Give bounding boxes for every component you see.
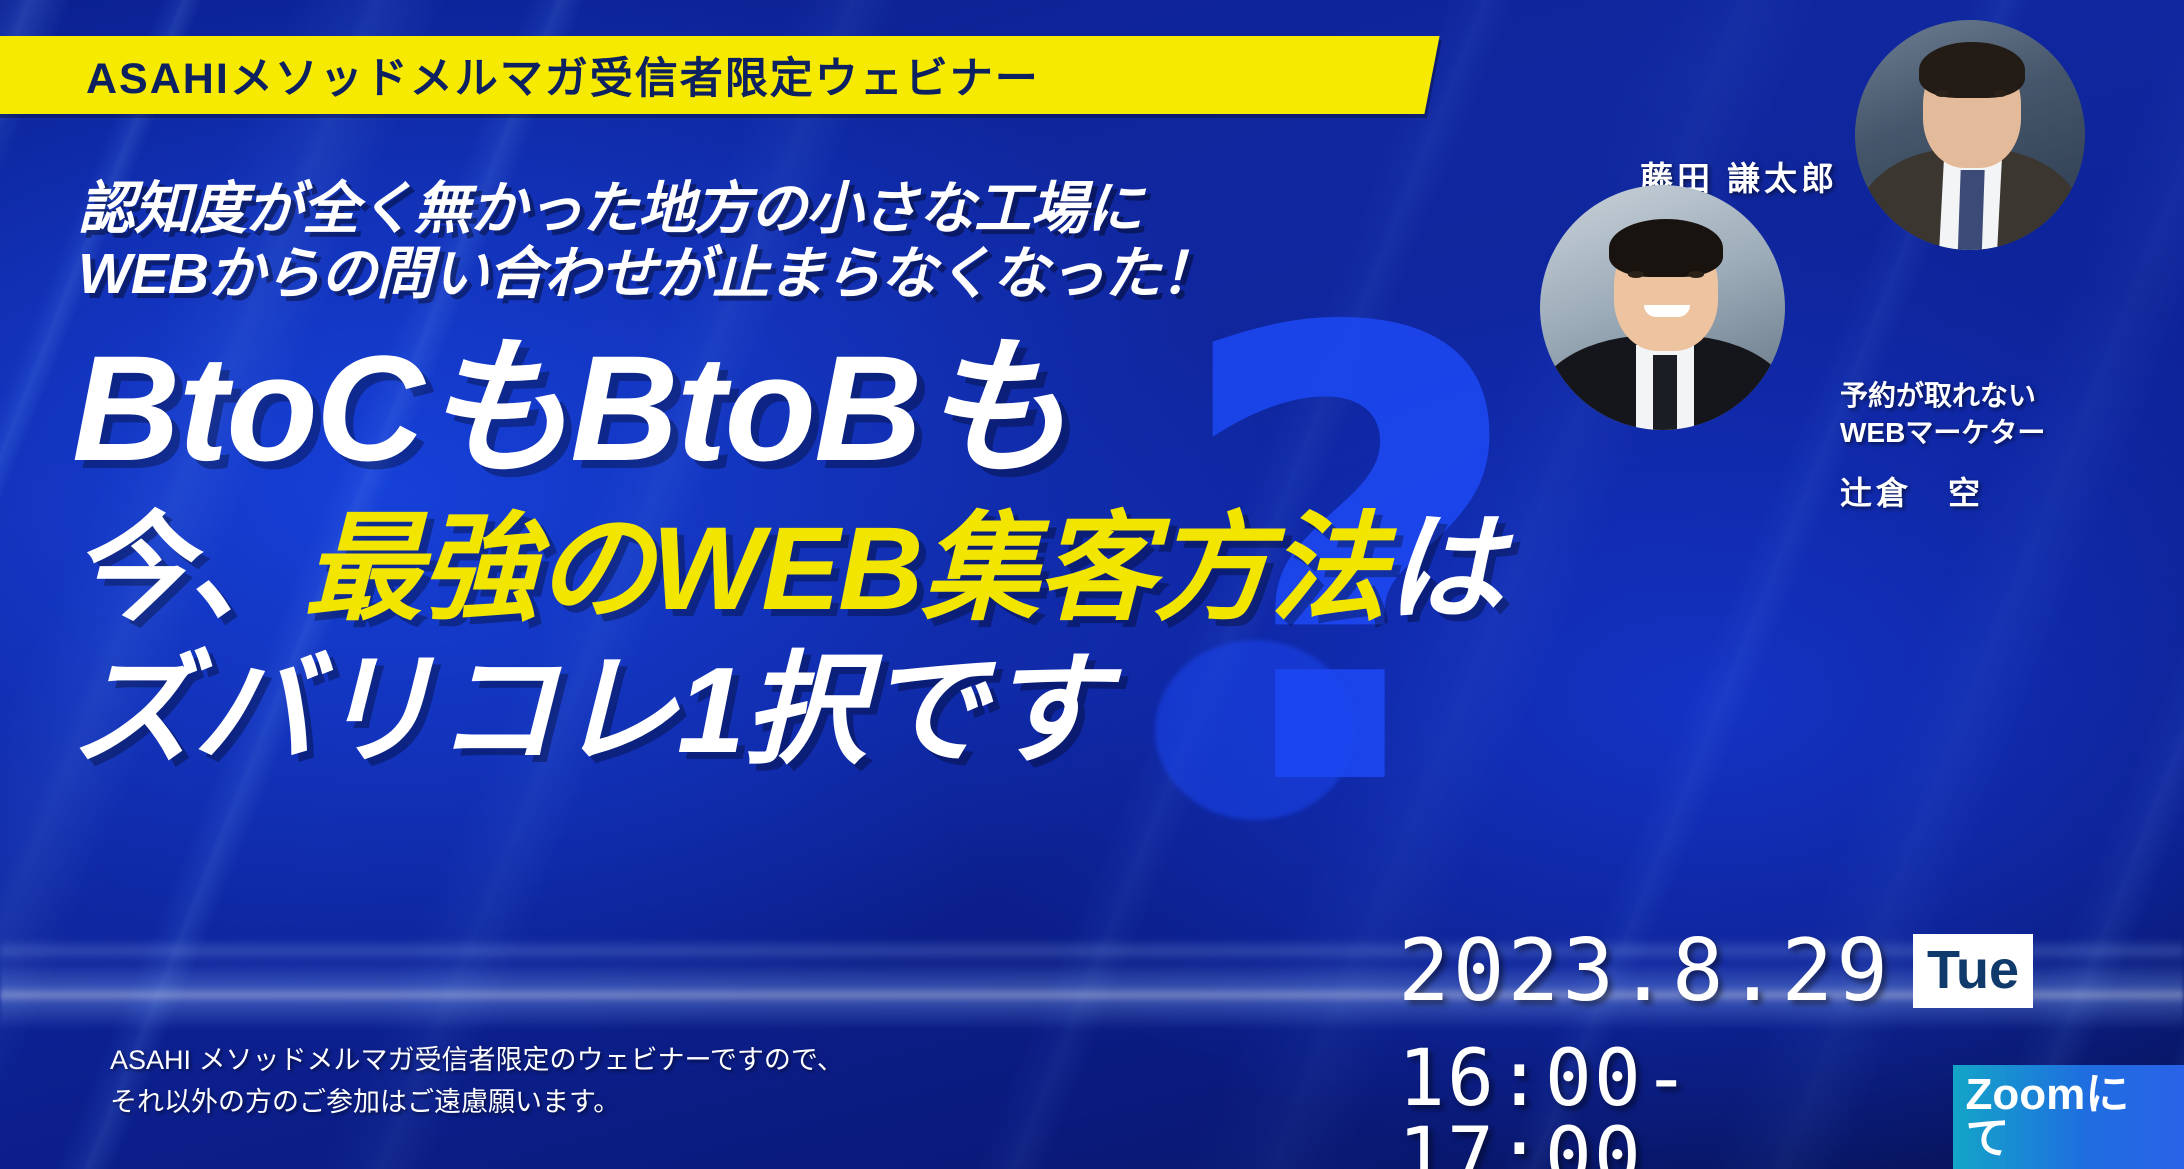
speaker-fujita-avatar <box>1855 20 2085 250</box>
footnote-line-1: ASAHI メソッドメルマガ受信者限定のウェビナーですので、 <box>110 1040 844 1082</box>
headline-line-2-prefix: 今、 <box>72 503 304 635</box>
sub-headline-line-2: WEBからの問い合わせが止まらなくなった！ <box>78 243 1198 306</box>
speaker-tsujikura-role-line-2: WEBマーケター <box>1840 415 2045 452</box>
schedule-date: 2023.8.29 <box>1398 928 1891 1014</box>
eyebrow-ribbon: ASAHIメソッドメルマガ受信者限定ウェビナー <box>0 36 1440 114</box>
footnote: ASAHI メソッドメルマガ受信者限定のウェビナーですので、 それ以外の方のご参… <box>110 1040 844 1124</box>
main-headline: BtoCもBtoBも 今、最強のWEB集客方法は ズバリコレ1択です <box>72 330 1552 774</box>
schedule-time: 16:00-17:00 <box>1398 1040 1933 1169</box>
schedule-block: 2023.8.29 Tue 16:00-17:00 Zoomにて <box>1398 928 2184 1169</box>
webinar-banner: ? ASAHIメソッドメルマガ受信者限定ウェビナー 認知度が全く無かった地方の小… <box>0 0 2184 1169</box>
headline-line-2-suffix: は <box>1385 503 1501 635</box>
headline-line-1: BtoCもBtoBも <box>72 330 1552 486</box>
speaker-tsujikura-avatar <box>1540 185 1785 430</box>
headline-line-2-highlight: 最強のWEB集客方法 <box>304 503 1385 635</box>
schedule-time-row: 16:00-17:00 Zoomにて <box>1398 1040 2184 1169</box>
footnote-line-2: それ以外の方のご参加はご遠慮願います。 <box>110 1082 844 1124</box>
sub-headline: 認知度が全く無かった地方の小さな工場に WEBからの問い合わせが止まらなくなった… <box>78 178 1198 307</box>
headline-line-3: ズバリコレ1択です <box>72 646 1552 774</box>
headline-line-2: 今、最強のWEB集客方法は <box>72 508 1552 632</box>
schedule-platform-badge: Zoomにて <box>1953 1065 2184 1169</box>
schedule-day-of-week-badge: Tue <box>1913 934 2033 1008</box>
eyebrow-ribbon-label: ASAHIメソッドメルマガ受信者限定ウェビナー <box>86 44 1040 106</box>
speaker-tsujikura-name: 辻倉 空 <box>1840 468 1984 514</box>
speaker-tsujikura-role: 予約が取れない WEBマーケター <box>1840 378 2045 452</box>
sub-headline-line-1: 認知度が全く無かった地方の小さな工場に <box>78 178 1198 241</box>
schedule-date-row: 2023.8.29 Tue <box>1398 928 2184 1014</box>
speaker-tsujikura-role-line-1: 予約が取れない <box>1840 378 2045 415</box>
